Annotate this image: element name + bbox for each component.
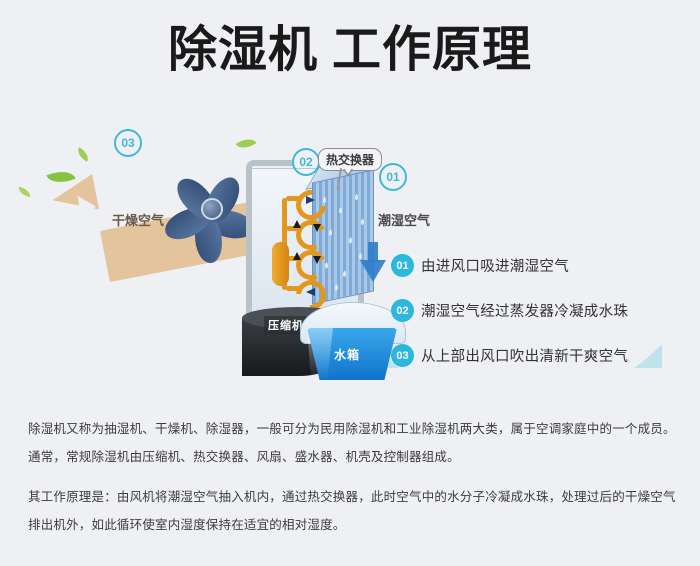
dehumidifier-unit: 压缩机 水箱 — [238, 150, 398, 385]
humid-air-label: 潮湿空气 — [378, 210, 430, 229]
paragraph-2-line-1: 其工作原理是：由风机将潮湿空气抽入机内，通过热交换器，此时空气中的水分子冷凝成水… — [28, 486, 678, 508]
water-flow-arrow — [360, 260, 386, 282]
diagram-badge-03: 03 — [114, 129, 142, 157]
legend-number-badge: 03 — [392, 345, 413, 366]
legend-text: 由进风口吸进潮湿空气 — [421, 255, 569, 276]
diagram-badge-01: 01 — [379, 163, 407, 191]
legend-number-badge: 02 — [392, 300, 413, 321]
accumulator — [272, 242, 289, 286]
title-segment-product: 除湿机 — [168, 23, 318, 77]
water-flow-arrow-stem — [368, 242, 378, 262]
heat-exchanger-callout: 热交换器 — [318, 148, 382, 171]
legend-number-badge: 01 — [392, 255, 413, 276]
water-tank-label: 水箱 — [334, 346, 360, 363]
legend-text: 从上部出风口吹出清新干爽空气 — [421, 345, 628, 366]
paragraph-2-line-2: 排出机外，如此循环使室内湿度保持在适宜的相对湿度。 — [28, 514, 678, 536]
condenser-coil — [266, 190, 338, 308]
heat-exchanger-callout-label: 热交换器 — [326, 153, 374, 167]
leaf-icon — [17, 187, 31, 198]
legend-item: 02 潮湿空气经过蒸发器冷凝成水珠 — [392, 300, 692, 321]
title-segment-topic: 工作原理 — [332, 23, 532, 77]
paragraph-1-line-2: 通常，常规除湿机由压缩机、热交换器、风扇、盛水器、机壳及控制器组成。 — [28, 446, 678, 468]
leaf-icon — [75, 147, 92, 162]
legend-item: 03 从上部出风口吹出清新干爽空气 — [392, 345, 692, 366]
steps-legend: 01 由进风口吸进潮湿空气 02 潮湿空气经过蒸发器冷凝成水珠 03 从上部出风… — [392, 255, 692, 390]
legend-item: 01 由进风口吸进潮湿空气 — [392, 255, 692, 276]
description-copy: 除湿机又称为抽湿机、干燥机、除湿器，一般可分为民用除湿机和工业除湿机两大类，属于… — [28, 418, 678, 542]
dry-air-label: 干燥空气 — [112, 210, 164, 229]
paragraph-1-line-1: 除湿机又称为抽湿机、干燥机、除湿器，一般可分为民用除湿机和工业除湿机两大类，属于… — [28, 418, 678, 440]
legend-text: 潮湿空气经过蒸发器冷凝成水珠 — [421, 300, 628, 321]
callout-tail-icon — [343, 169, 353, 177]
water-tank — [300, 302, 404, 384]
diagram-badge-02: 02 — [292, 148, 320, 176]
page-title: 除湿机工作原理 — [0, 26, 700, 75]
